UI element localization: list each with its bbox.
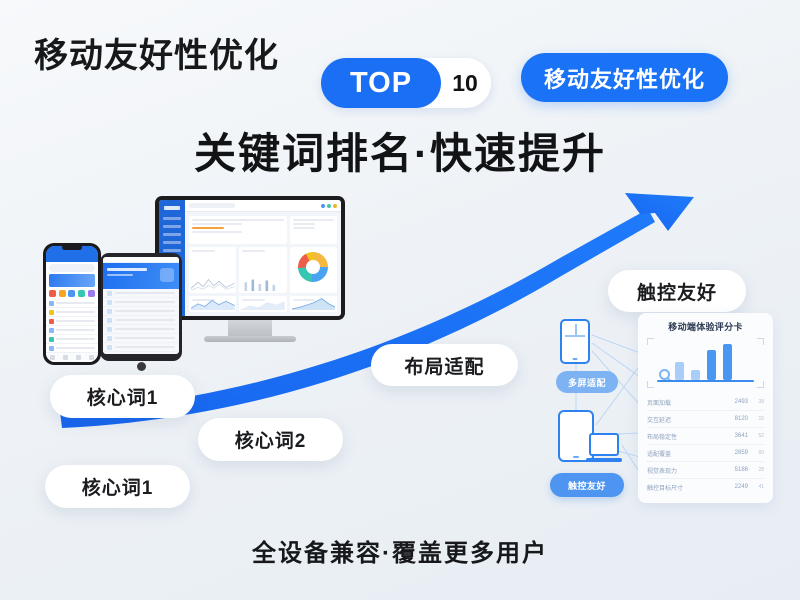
tablet-banner [103, 263, 179, 289]
tablet-bezel [100, 253, 182, 361]
score-card-title: 移动端体验评分卡 [647, 320, 764, 333]
monitor-screen [159, 200, 341, 316]
quick-icon [78, 290, 85, 297]
widget-line-chart [189, 247, 236, 293]
row-pct: 41 [752, 484, 764, 490]
row-value: 3641 [735, 433, 748, 439]
chart-baseline [657, 380, 754, 382]
widget-line [242, 250, 265, 252]
list-item [46, 317, 98, 326]
row-value: 2493 [735, 399, 748, 405]
widget-area-chart-left [189, 296, 236, 312]
tablet-home-button [137, 362, 146, 371]
list-item [103, 298, 179, 307]
chart-bar [691, 370, 700, 380]
device-mockups [40, 190, 340, 370]
list-item [103, 307, 179, 316]
widget-line [192, 219, 284, 221]
chart-bar [707, 350, 716, 380]
donut-chart-icon [298, 252, 328, 282]
widget-summary [290, 216, 337, 244]
tablet-screen [103, 257, 179, 354]
area-chart-icon [292, 296, 336, 310]
list-item [103, 334, 179, 343]
table-row: 触控目标尺寸 2249 41 [647, 479, 764, 495]
kicker-title: 移动友好性优化 [34, 28, 279, 77]
list-item [46, 308, 98, 317]
keyword-pill-layout-adapt: 布局适配 [371, 344, 518, 386]
list-item [46, 335, 98, 344]
tablet-mockup [100, 253, 182, 361]
quick-icons-row [46, 289, 98, 299]
topbar-dot-icon [333, 204, 337, 208]
phone-screen [46, 246, 98, 362]
sidebar-nav-item [163, 249, 181, 252]
table-row: 布局稳定性 3641 52 [647, 428, 764, 445]
dashboard-logo-icon [164, 206, 180, 210]
list-item [46, 299, 98, 308]
widget-highlight-line [192, 227, 224, 229]
list-item [103, 343, 179, 352]
row-label: 适配覆盖 [647, 449, 731, 458]
row-pct: 52 [752, 433, 764, 439]
monitor-stand [228, 320, 272, 336]
row-value: 8120 [735, 416, 748, 422]
search-input [49, 264, 95, 272]
area-chart-icon [241, 296, 285, 310]
chart-bar [723, 344, 732, 380]
row-pct: 38 [752, 399, 764, 405]
tag-pill-mobile-friendly: 移动友好性优化 [521, 53, 728, 102]
row-label: 触控目标尺寸 [647, 483, 731, 492]
row-pct: 15 [752, 416, 764, 422]
list-item [103, 289, 179, 298]
widget-filter-panel [189, 216, 287, 244]
row-label: 视觉表现力 [647, 466, 731, 475]
widget-line [192, 223, 242, 225]
chart-bars [659, 342, 754, 380]
top-number: 10 [443, 61, 487, 105]
top-label: TOP [321, 58, 441, 108]
table-row: 交互延迟 8120 15 [647, 411, 764, 428]
row-label: 交互延迟 [647, 415, 731, 424]
score-rows: 页面加载 2493 38 交互延迟 8120 15 布局稳定性 3641 52 … [647, 394, 764, 495]
row-pct: 28 [752, 467, 764, 473]
dashboard-widgets [185, 212, 341, 316]
widget-bar-chart [239, 247, 286, 293]
row-pct: 60 [752, 450, 764, 456]
widget-donut-chart [290, 247, 337, 293]
widget-area-chart-mid [239, 296, 286, 312]
mini-pill-multiscreen: 多屏适配 [556, 371, 618, 393]
table-row: 适配覆盖 2859 60 [647, 445, 764, 462]
laptop-icon [586, 433, 622, 465]
score-chart [647, 338, 764, 388]
chart-bar [675, 362, 684, 380]
page-title: 关键词排名·快速提升 [0, 120, 800, 181]
list-item [46, 326, 98, 335]
keyword-pill-3: 核心词1 [45, 465, 190, 508]
footer-tagline: 全设备兼容·覆盖更多用户 [0, 533, 800, 568]
phone-tabbar [46, 352, 98, 362]
topbar-dot-icon [327, 204, 331, 208]
small-phone-icon [560, 319, 590, 364]
sidebar-nav-item [163, 233, 181, 236]
dashboard-search-icon [189, 203, 235, 208]
widget-line [293, 227, 316, 229]
poster-canvas: 移动友好性优化 TOP 10 移动友好性优化 关键词排名·快速提升 [0, 0, 800, 600]
quick-icon [68, 290, 75, 297]
top-rank-badge: TOP 10 [321, 58, 491, 108]
area-chart-icon [191, 296, 235, 310]
mini-pill-touch-friendly: 触控友好 [550, 473, 624, 497]
widget-line [293, 219, 334, 221]
keyword-pill-2: 核心词2 [198, 418, 343, 461]
list-item [103, 316, 179, 325]
line-chart-icon [191, 277, 235, 291]
row-value: 5186 [735, 467, 748, 473]
phone-mockup [43, 243, 101, 365]
widget-line [192, 250, 215, 252]
sidebar-nav-item [163, 241, 181, 244]
widget-line [192, 231, 242, 233]
sidebar-nav-item [163, 217, 181, 220]
list-item [103, 325, 179, 334]
row-label: 页面加载 [647, 398, 731, 407]
keyword-pill-1: 核心词1 [50, 375, 195, 418]
row-label: 布局稳定性 [647, 432, 731, 441]
phone-banner [49, 274, 95, 287]
monitor-base [204, 336, 296, 342]
phone-notch [62, 245, 82, 250]
widget-area-chart-right [290, 296, 337, 312]
row-value: 2249 [735, 484, 748, 490]
monitor-bezel [155, 196, 345, 320]
desktop-monitor-mockup [155, 196, 345, 332]
score-card: 移动端体验评分卡 页面加载 2493 38 [638, 313, 773, 503]
table-row: 视觉表现力 5186 28 [647, 462, 764, 479]
mobile-experience-infographic: 多屏适配 触控友好 移动端体验评分卡 [548, 305, 780, 515]
bar-chart-icon [241, 277, 285, 291]
dashboard-main [185, 200, 341, 316]
widget-line [293, 223, 316, 225]
dashboard-topbar [185, 200, 341, 212]
table-row: 页面加载 2493 38 [647, 394, 764, 411]
quick-icon [49, 290, 56, 297]
sidebar-nav-item [163, 225, 181, 228]
row-value: 2859 [735, 450, 748, 456]
topbar-dot-icon [321, 204, 325, 208]
quick-icon [59, 290, 66, 297]
quick-icon [88, 290, 95, 297]
phone-bezel [43, 243, 101, 365]
